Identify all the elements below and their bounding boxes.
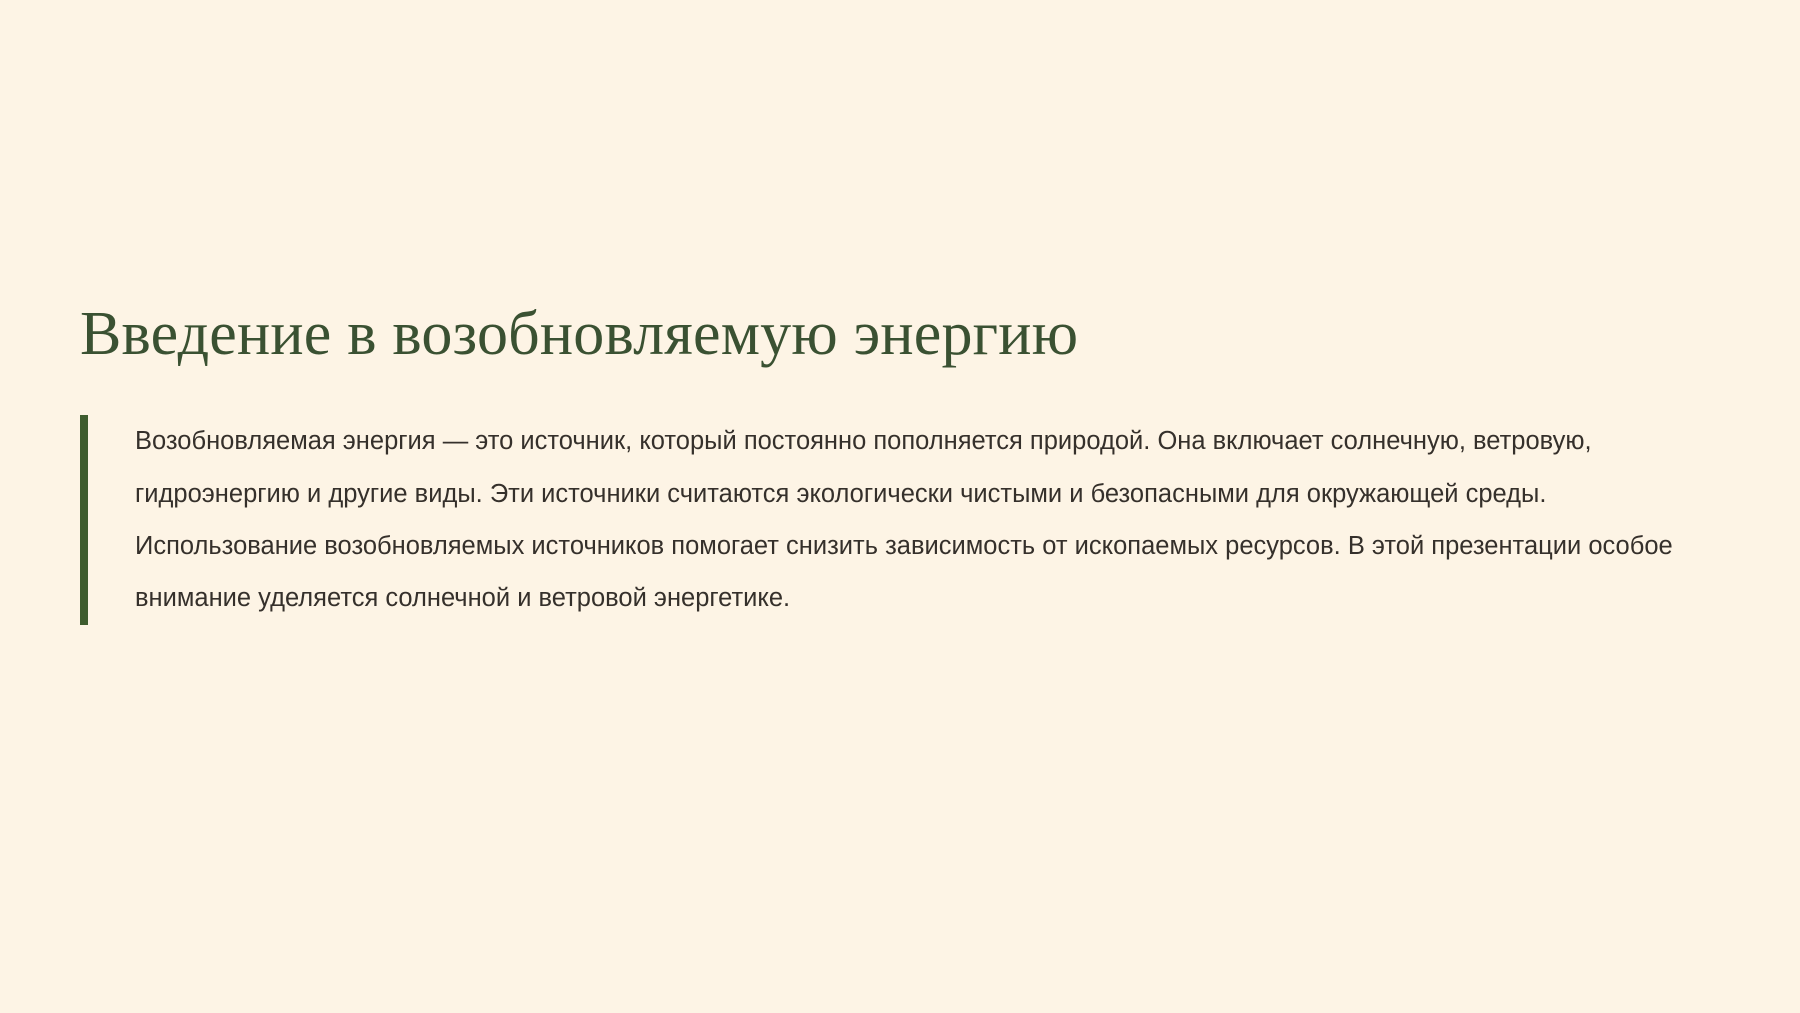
slide-canvas: Введение в возобновляемую энергию Возобн…: [0, 0, 1800, 1013]
page-title: Введение в возобновляемую энергию: [80, 300, 1720, 369]
body-accent-block: Возобновляемая энергия — это источник, к…: [80, 415, 1720, 624]
body-paragraph: Возобновляемая энергия — это источник, к…: [135, 415, 1720, 624]
slide-content: Введение в возобновляемую энергию Возобн…: [80, 300, 1720, 625]
